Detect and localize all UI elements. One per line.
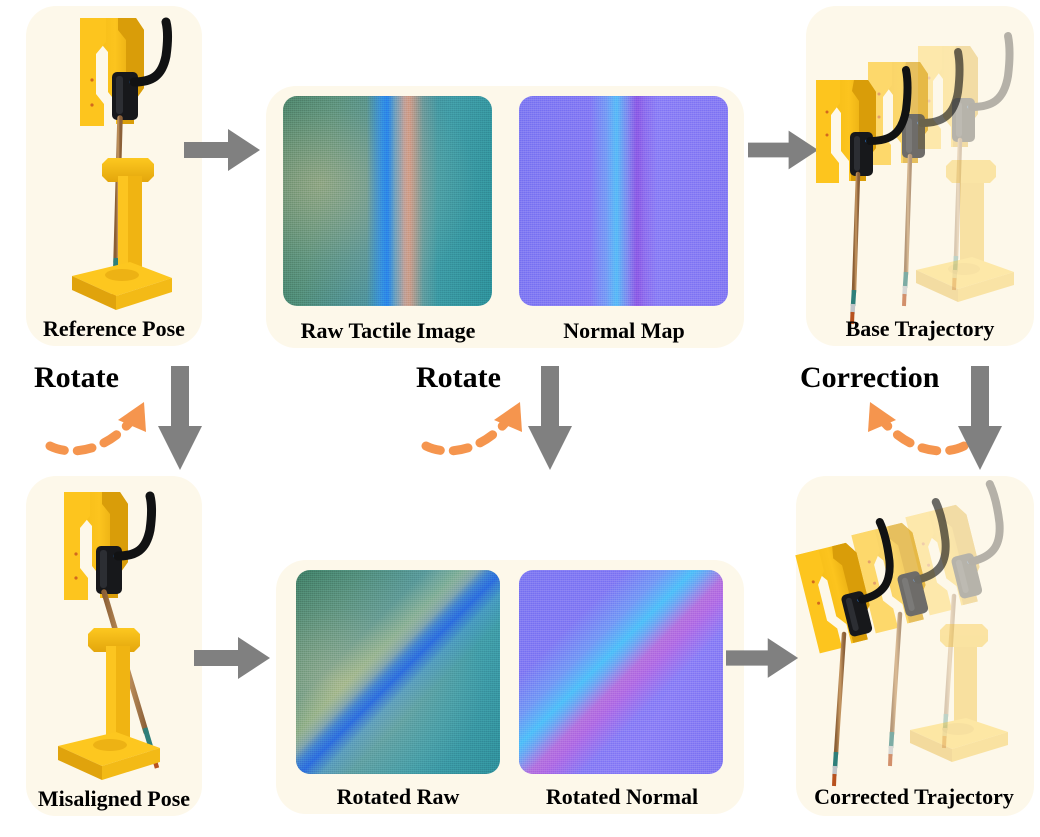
tile-rotated-normal — [519, 570, 723, 774]
arrow-right-icon-4 — [726, 636, 800, 680]
caption-misaligned-pose: Misaligned Pose — [12, 788, 216, 810]
base-trajectory-photo — [806, 14, 1034, 320]
curved-dashed-arrow-icon-middle — [424, 396, 534, 458]
tile-normal-map — [519, 96, 728, 306]
tile-raw-tactile-image — [283, 96, 492, 306]
caption-reference-pose: Reference Pose — [26, 318, 202, 340]
arrow-down-icon-middle — [528, 366, 572, 470]
curved-dashed-arrow-icon-left — [48, 396, 158, 458]
tile-rotated-raw — [296, 570, 500, 774]
caption-rotated-raw: Rotated Raw — [296, 786, 500, 808]
step-label-rotate-middle: Rotate — [416, 363, 501, 393]
arrow-right-icon-3 — [194, 636, 272, 680]
caption-base-trajectory: Base Trajectory — [806, 318, 1034, 340]
reference-pose-photo — [34, 10, 198, 316]
caption-normal-map: Normal Map — [516, 320, 732, 342]
caption-raw-tactile-image: Raw Tactile Image — [268, 320, 508, 342]
arrow-down-icon-left — [158, 366, 202, 470]
step-label-rotate-left: Rotate — [34, 363, 119, 393]
arrow-right-icon-1 — [184, 128, 262, 172]
step-label-correction: Correction — [800, 363, 939, 393]
arrow-down-icon-right — [958, 366, 1002, 470]
caption-rotated-normal: Rotated Normal — [516, 786, 728, 808]
corrected-trajectory-photo — [796, 484, 1034, 784]
caption-corrected-trajectory: Corrected Trajectory — [788, 786, 1040, 808]
curved-dashed-arrow-icon-right — [856, 398, 966, 458]
misaligned-pose-photo — [34, 482, 198, 788]
